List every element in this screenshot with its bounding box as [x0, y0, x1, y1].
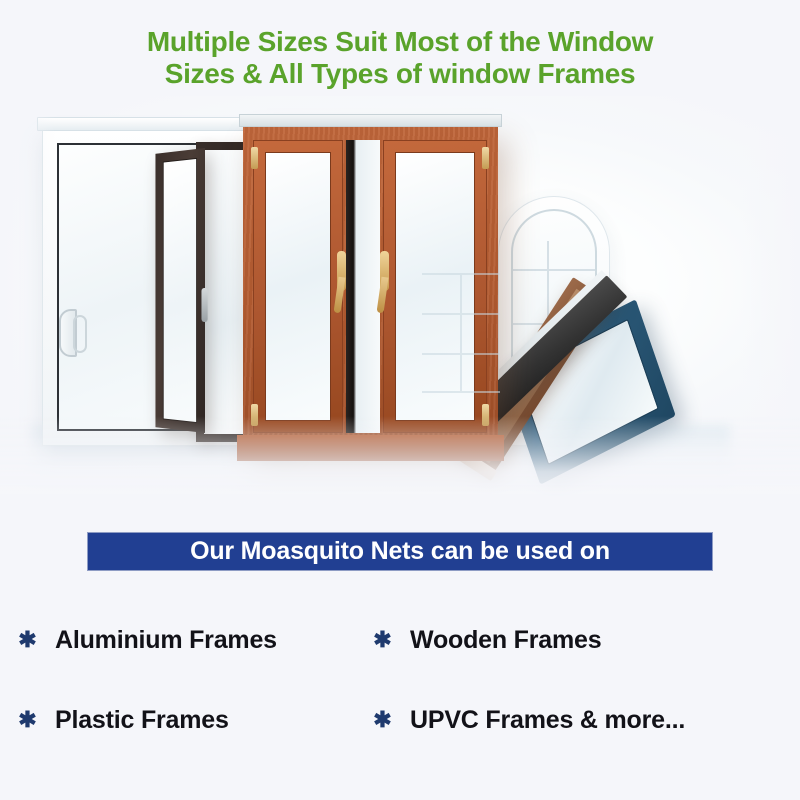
list-item-upvc-frames: ✱ UPVC Frames & more... [355, 680, 800, 760]
wooden-window-hinge-top-left [251, 147, 258, 169]
wooden-window-right-glass [395, 152, 475, 421]
wooden-window-head-rail [239, 114, 502, 127]
wooden-window-right-handle [380, 251, 389, 291]
list-item-wooden-frames: ✱ Wooden Frames [355, 600, 800, 680]
wooden-window-left-handle [337, 251, 346, 291]
wooden-window-left-glass [265, 152, 331, 421]
wooden-window-left-leaf [253, 140, 343, 433]
usage-banner-text: Our Moasquito Nets can be used on [190, 537, 610, 566]
asterisk-icon: ✱ [0, 629, 55, 651]
dark-brown-casement-window [155, 148, 205, 433]
asterisk-icon: ✱ [355, 709, 410, 731]
page-title-line-2: Sizes & All Types of window Frames [0, 58, 800, 90]
photo-bottom-fade [0, 416, 800, 506]
wooden-window-center-gap [346, 140, 380, 433]
list-item-label: UPVC Frames & more... [410, 706, 685, 735]
page-title: Multiple Sizes Suit Most of the Window S… [0, 26, 800, 90]
usage-banner: Our Moasquito Nets can be used on [87, 532, 713, 571]
list-item-aluminium-frames: ✱ Aluminium Frames [0, 600, 355, 680]
wooden-window-hinge-top-right [482, 147, 489, 169]
wooden-window-right-leaf [383, 140, 487, 433]
dark-window-handle [201, 288, 207, 322]
wooden-double-casement-window [243, 126, 498, 461]
list-item-plastic-frames: ✱ Plastic Frames [0, 680, 355, 760]
page-title-line-1: Multiple Sizes Suit Most of the Window [0, 26, 800, 58]
hero-photo [0, 96, 800, 506]
dark-window-glass [163, 158, 197, 423]
list-item-label: Wooden Frames [410, 626, 601, 655]
asterisk-icon: ✱ [355, 629, 410, 651]
list-item-label: Aluminium Frames [55, 626, 277, 655]
list-item-label: Plastic Frames [55, 706, 229, 735]
frame-types-list: ✱ Aluminium Frames ✱ Wooden Frames ✱ Pla… [0, 600, 800, 760]
aluminium-window-handle-loop [73, 315, 87, 353]
reflected-muntin-grid [422, 273, 500, 393]
asterisk-icon: ✱ [0, 709, 55, 731]
